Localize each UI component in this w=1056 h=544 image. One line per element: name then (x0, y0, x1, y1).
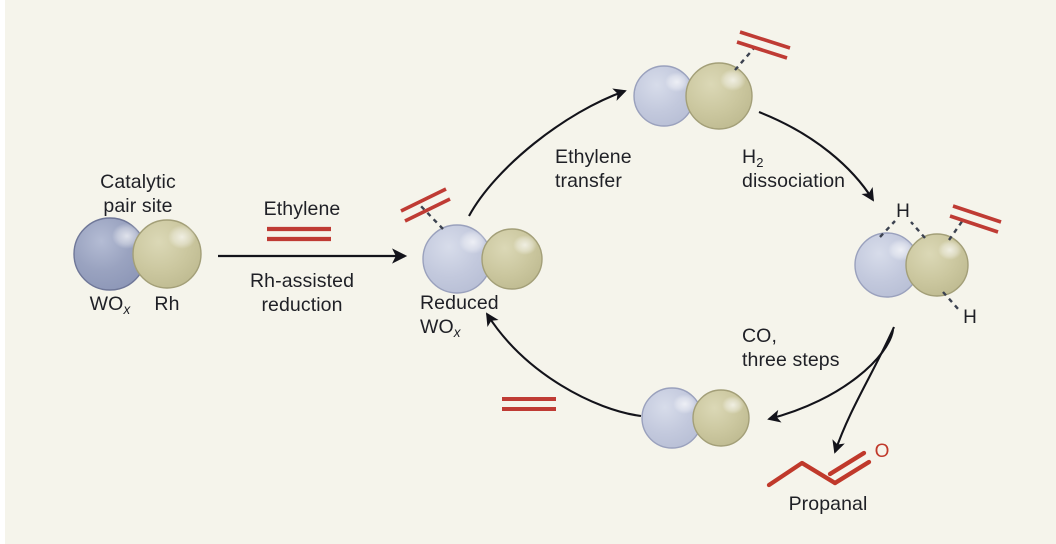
reduced-wox-caption-line1: Reduced (420, 291, 499, 315)
main-arrow-below-line2: reduction (261, 293, 342, 317)
ethylene-double-bond-icon-right (950, 206, 1001, 232)
step-ethylene-transfer-line1: Ethylene (555, 145, 632, 169)
wox-label-main: WO (90, 293, 124, 315)
ethylene-double-bond-icon-free (502, 399, 556, 409)
state-reduced-wox-spheres (401, 189, 542, 293)
rh-label: Rh (154, 292, 179, 316)
reduced-wox-highlight (665, 72, 689, 92)
diagram-vector-layer (5, 0, 1056, 544)
rh-sphere (693, 390, 749, 446)
adsorption-dashed-bond (735, 47, 755, 70)
state-bare-pair-spheres (642, 388, 749, 448)
step-ethylene-transfer-line2: transfer (555, 169, 622, 193)
ethylene-double-bond-icon-on-rh (737, 32, 790, 58)
ethylene-double-bond-icon-on-wox (401, 189, 450, 221)
arrow-to-propanal (835, 327, 894, 452)
bridging-h-label: H (896, 201, 910, 223)
main-arrow-above-label: Ethylene (264, 197, 341, 221)
propanal-skeletal-icon (769, 453, 869, 485)
step-h2-dissociation-line1: H2 (742, 145, 764, 169)
reduced-wox-caption-subscript: x (454, 325, 461, 340)
wox-label-subscript: x (123, 302, 130, 317)
step-h2-dissociation-line2: dissociation (742, 169, 845, 193)
propanal-name: Propanal (789, 492, 868, 516)
rh-sphere-highlight (513, 235, 537, 255)
figure-canvas: Catalytic pair site WOx Rh Ethylene Rh-a… (0, 0, 1056, 544)
adsorption-dashed-bond (949, 220, 963, 240)
main-arrow-below-line1: Rh-assisted (250, 269, 354, 293)
terminal-h-bond (943, 292, 959, 310)
arrow-co-three-steps (769, 330, 893, 419)
rh-sphere-highlight (168, 225, 196, 249)
step-co-three-steps-line1: CO, (742, 324, 777, 348)
wox-label: WOx (90, 292, 131, 316)
precursor-caption-line1: Catalytic (100, 170, 176, 194)
bridging-h-bond-rh (911, 222, 925, 238)
step-co-three-steps-line2: three steps (742, 348, 840, 372)
step-h2-subscript: 2 (756, 155, 763, 170)
propanal-oxygen-label: O (875, 441, 890, 463)
rh-sphere-highlight (720, 69, 746, 91)
step-h2-main: H (742, 146, 756, 168)
reduced-wox-caption-main: WO (420, 316, 454, 338)
terminal-h-label: H (963, 307, 977, 329)
ethylene-double-bond-icon-main (267, 229, 331, 239)
precursor-pair-spheres (74, 218, 201, 290)
precursor-caption-line2: pair site (103, 194, 172, 218)
rh-sphere-highlight (722, 396, 744, 414)
reduced-wox-caption-line2: WOx (420, 315, 461, 339)
state-h2-dissociated-spheres (855, 206, 1001, 310)
rh-sphere-highlight (938, 240, 962, 260)
